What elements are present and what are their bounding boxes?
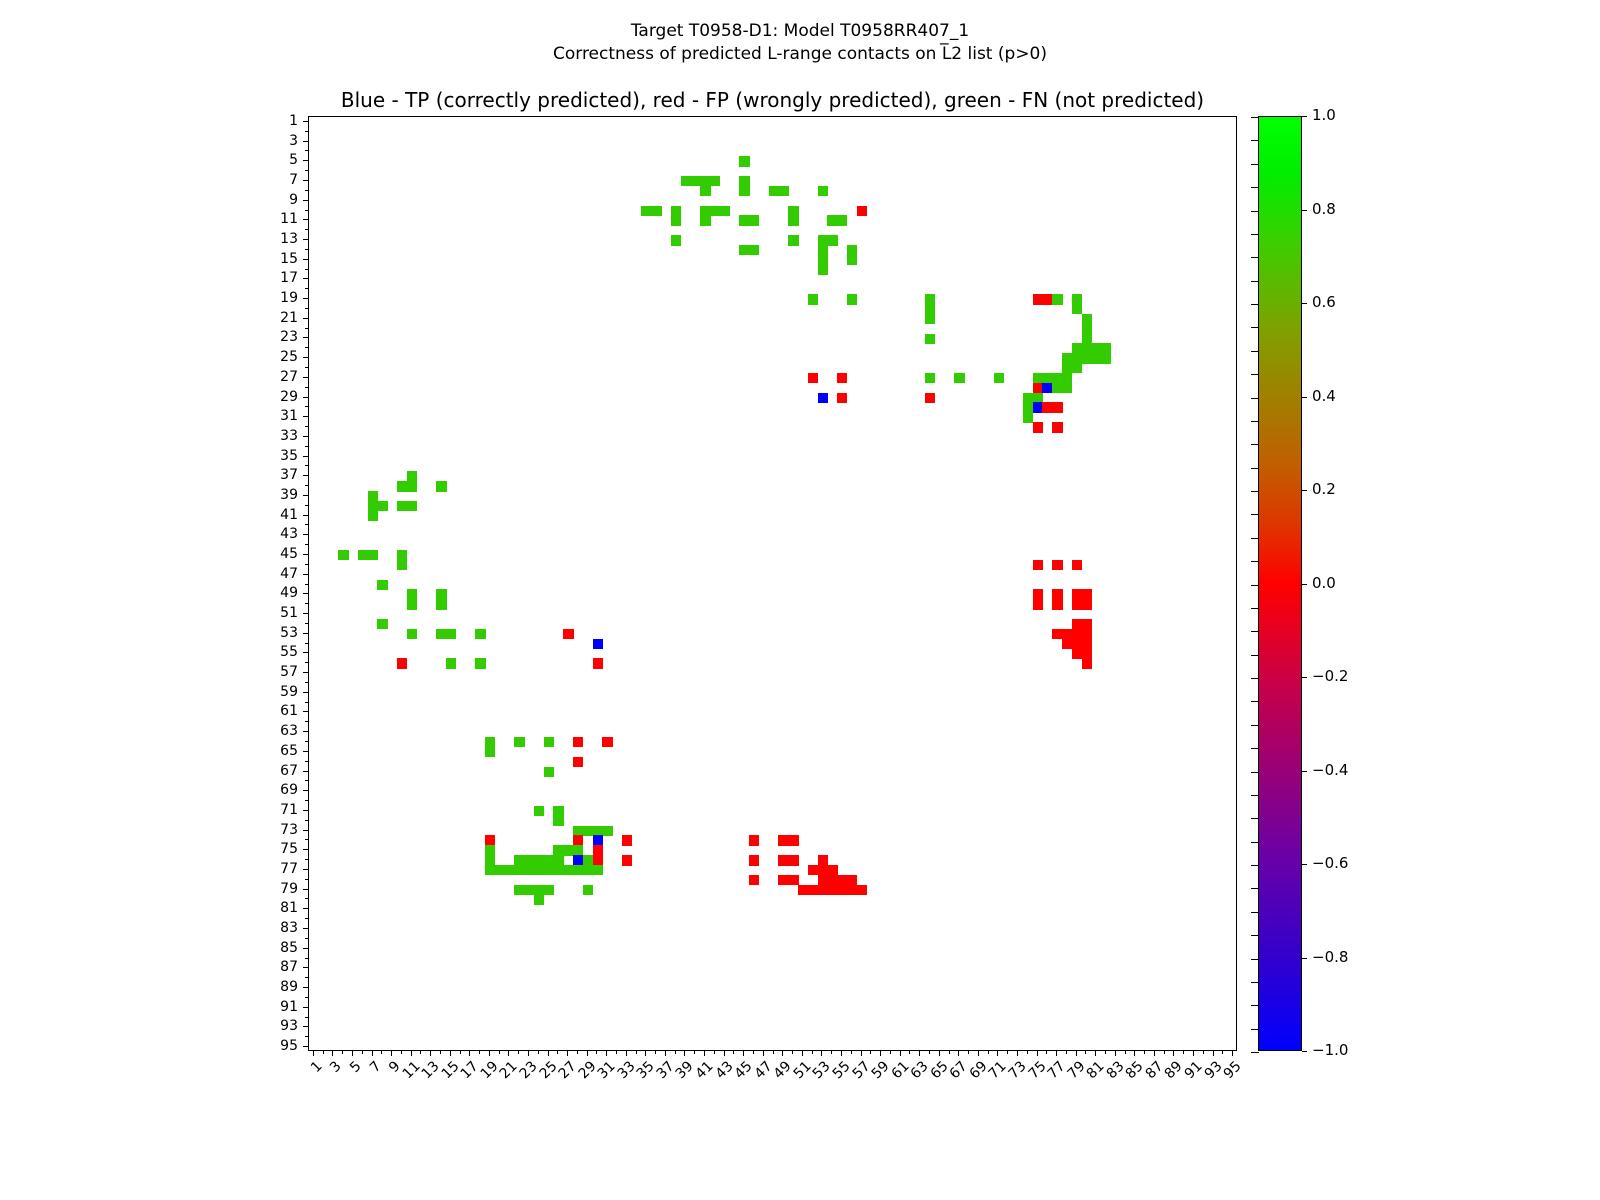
x-tick-mark bbox=[821, 1051, 822, 1056]
y-tick-mark bbox=[305, 406, 308, 407]
x-tick-mark bbox=[704, 1051, 705, 1056]
x-tick-mark bbox=[1046, 1051, 1047, 1054]
contact-cell-fp bbox=[837, 393, 847, 403]
contact-cell-fn bbox=[407, 501, 417, 511]
y-tick-mark bbox=[305, 229, 308, 230]
contact-cell-fn bbox=[671, 235, 681, 245]
x-tick-mark bbox=[1164, 1051, 1165, 1054]
x-tick-mark bbox=[1017, 1051, 1018, 1056]
y-tick-label: 73 bbox=[260, 823, 298, 837]
y-tick-label: 25 bbox=[260, 350, 298, 364]
colorbar-minor-tick bbox=[1251, 398, 1259, 399]
y-tick-label: 33 bbox=[260, 429, 298, 443]
y-tick-mark bbox=[303, 298, 308, 299]
y-tick-label: 89 bbox=[260, 980, 298, 994]
contact-cell-fp bbox=[622, 835, 632, 845]
y-tick-mark bbox=[305, 387, 308, 388]
contact-cell-fn bbox=[1052, 294, 1062, 304]
contact-cell-fp bbox=[925, 393, 935, 403]
contact-cell-fn bbox=[436, 599, 446, 609]
y-tick-mark bbox=[303, 475, 308, 476]
y-tick-label: 85 bbox=[260, 941, 298, 955]
y-tick-mark bbox=[303, 180, 308, 181]
contact-cell-fn bbox=[397, 560, 407, 570]
colorbar-minor-tick bbox=[1251, 538, 1259, 539]
contact-cell-fn bbox=[739, 156, 749, 166]
contact-cell-fn bbox=[436, 481, 446, 491]
y-tick-mark bbox=[305, 997, 308, 998]
y-tick-label: 65 bbox=[260, 744, 298, 758]
contact-cell-fn bbox=[377, 619, 387, 629]
y-tick-mark bbox=[303, 908, 308, 909]
colorbar-minor-tick bbox=[1251, 117, 1259, 118]
x-tick-mark bbox=[714, 1051, 715, 1054]
contact-cell-fn bbox=[925, 314, 935, 324]
y-tick-label: 19 bbox=[260, 291, 298, 305]
x-tick-mark bbox=[1173, 1051, 1174, 1056]
y-tick-mark bbox=[305, 328, 308, 329]
y-tick-mark bbox=[305, 465, 308, 466]
x-tick-mark bbox=[391, 1051, 392, 1056]
x-tick-mark bbox=[851, 1051, 852, 1054]
contact-cell-fn bbox=[544, 767, 554, 777]
x-tick-mark bbox=[401, 1051, 402, 1054]
contact-cell-fn bbox=[602, 826, 612, 836]
contact-cell-fp bbox=[1082, 658, 1092, 668]
colorbar-minor-tick bbox=[1251, 304, 1259, 305]
y-tick-mark bbox=[303, 318, 308, 319]
y-tick-label: 71 bbox=[260, 803, 298, 817]
y-tick-label: 75 bbox=[260, 842, 298, 856]
contact-cell-fp bbox=[573, 737, 583, 747]
y-tick-mark bbox=[303, 436, 308, 437]
y-tick-mark bbox=[303, 849, 308, 850]
contact-cell-fn bbox=[368, 511, 378, 521]
colorbar-tick-mark bbox=[1302, 490, 1307, 491]
colorbar-minor-tick bbox=[1251, 725, 1259, 726]
y-tick-mark bbox=[303, 751, 308, 752]
y-tick-mark bbox=[303, 337, 308, 338]
contact-cell-fp bbox=[857, 206, 867, 216]
y-tick-mark bbox=[305, 761, 308, 762]
x-tick-mark bbox=[332, 1051, 333, 1056]
y-tick-mark bbox=[305, 662, 308, 663]
colorbar-tick-mark bbox=[1302, 584, 1307, 585]
x-tick-mark bbox=[508, 1051, 509, 1056]
y-tick-mark bbox=[305, 938, 308, 939]
contact-cell-fn bbox=[544, 737, 554, 747]
y-tick-label: 61 bbox=[260, 704, 298, 718]
x-tick-mark bbox=[518, 1051, 519, 1054]
colorbar-minor-tick bbox=[1251, 374, 1259, 375]
x-tick-mark bbox=[939, 1051, 940, 1056]
x-tick-mark bbox=[675, 1051, 676, 1054]
colorbar-minor-tick bbox=[1251, 1029, 1259, 1030]
y-tick-label: 7 bbox=[260, 173, 298, 187]
x-tick-mark bbox=[919, 1051, 920, 1056]
y-tick-label: 17 bbox=[260, 271, 298, 285]
x-tick-mark bbox=[1213, 1051, 1214, 1056]
x-tick-mark bbox=[694, 1051, 695, 1054]
y-tick-label: 29 bbox=[260, 390, 298, 404]
colorbar-tick-label: −0.8 bbox=[1312, 950, 1348, 965]
y-tick-mark bbox=[303, 416, 308, 417]
y-tick-label: 5 bbox=[260, 153, 298, 167]
y-tick-mark bbox=[305, 190, 308, 191]
y-tick-mark bbox=[303, 495, 308, 496]
y-tick-mark bbox=[305, 544, 308, 545]
colorbar-minor-tick bbox=[1251, 959, 1259, 960]
x-tick-mark bbox=[440, 1051, 441, 1054]
contact-cell-fn bbox=[749, 245, 759, 255]
x-tick-mark bbox=[1066, 1051, 1067, 1054]
x-tick-mark bbox=[655, 1051, 656, 1054]
y-tick-mark bbox=[303, 121, 308, 122]
y-tick-mark bbox=[305, 1036, 308, 1037]
y-tick-mark bbox=[303, 613, 308, 614]
colorbar-minor-tick bbox=[1251, 211, 1259, 212]
x-tick-mark bbox=[587, 1051, 588, 1056]
x-tick-mark bbox=[978, 1051, 979, 1056]
x-tick-mark bbox=[1222, 1051, 1223, 1054]
x-tick-mark bbox=[323, 1051, 324, 1054]
contact-cell-fp bbox=[808, 373, 818, 383]
y-tick-mark bbox=[305, 879, 308, 880]
y-tick-label: 59 bbox=[260, 685, 298, 699]
contact-cell-fn bbox=[1062, 383, 1072, 393]
y-tick-mark bbox=[303, 889, 308, 890]
y-tick-mark bbox=[303, 672, 308, 673]
colorbar-minor-tick bbox=[1251, 865, 1259, 866]
x-tick-mark bbox=[645, 1051, 646, 1056]
contact-cell-fn bbox=[818, 265, 828, 275]
y-tick-mark bbox=[305, 721, 308, 722]
y-tick-mark bbox=[303, 397, 308, 398]
contact-cell-fn bbox=[407, 629, 417, 639]
contact-cell-fp bbox=[622, 855, 632, 865]
y-tick-mark bbox=[305, 308, 308, 309]
contact-cell-fn bbox=[475, 658, 485, 668]
contact-cell-fp bbox=[1072, 560, 1082, 570]
contact-cell-fp bbox=[1052, 560, 1062, 570]
x-tick-mark bbox=[792, 1051, 793, 1054]
contact-cell-fn bbox=[583, 885, 593, 895]
contact-cell-fn bbox=[788, 235, 798, 245]
contact-cell-fn bbox=[788, 215, 798, 225]
x-tick-mark bbox=[997, 1051, 998, 1056]
x-tick-mark bbox=[890, 1051, 891, 1054]
y-tick-label: 69 bbox=[260, 783, 298, 797]
contact-cell-fp bbox=[1052, 599, 1062, 609]
colorbar-minor-tick bbox=[1251, 491, 1259, 492]
colorbar-minor-tick bbox=[1251, 421, 1259, 422]
contact-cell-fp bbox=[563, 629, 573, 639]
y-tick-mark bbox=[303, 810, 308, 811]
y-tick-label: 43 bbox=[260, 527, 298, 541]
x-tick-mark bbox=[929, 1051, 930, 1054]
colorbar-minor-tick bbox=[1251, 655, 1259, 656]
x-tick-mark bbox=[1037, 1051, 1038, 1056]
y-tick-mark bbox=[303, 652, 308, 653]
x-tick-mark bbox=[352, 1051, 353, 1056]
contact-cell-fn bbox=[954, 373, 964, 383]
contact-cell-fn bbox=[534, 806, 544, 816]
contact-cell-fn bbox=[710, 176, 720, 186]
contact-cell-fn bbox=[925, 334, 935, 344]
y-tick-label: 63 bbox=[260, 724, 298, 738]
y-tick-label: 57 bbox=[260, 665, 298, 679]
contact-cell-fp bbox=[1033, 422, 1043, 432]
colorbar-minor-tick bbox=[1251, 561, 1259, 562]
y-tick-label: 95 bbox=[260, 1039, 298, 1053]
colorbar-tick-label: 1.0 bbox=[1312, 108, 1336, 123]
contact-cell-tp bbox=[818, 393, 828, 403]
x-tick-mark bbox=[870, 1051, 871, 1054]
colorbar-minor-ticks bbox=[1251, 117, 1259, 1052]
contact-cell-fn bbox=[446, 629, 456, 639]
colorbar-minor-tick bbox=[1251, 678, 1259, 679]
x-tick-mark bbox=[802, 1051, 803, 1056]
y-tick-mark bbox=[305, 446, 308, 447]
y-tick-mark bbox=[303, 987, 308, 988]
x-tick-mark bbox=[1027, 1051, 1028, 1054]
x-tick-mark bbox=[684, 1051, 685, 1056]
contact-cell-fp bbox=[749, 835, 759, 845]
x-tick-mark bbox=[753, 1051, 754, 1054]
y-tick-mark bbox=[303, 593, 308, 594]
x-tick-mark bbox=[548, 1051, 549, 1056]
contact-cell-fn bbox=[778, 186, 788, 196]
x-tick-mark bbox=[1095, 1051, 1096, 1056]
y-tick-label: 53 bbox=[260, 626, 298, 640]
contact-cell-fn bbox=[544, 885, 554, 895]
y-tick-mark bbox=[305, 623, 308, 624]
y-tick-mark bbox=[303, 259, 308, 260]
y-tick-mark bbox=[305, 150, 308, 151]
colorbar-tick-mark bbox=[1302, 958, 1307, 959]
y-tick-label: 91 bbox=[260, 1000, 298, 1014]
x-tick-mark bbox=[841, 1051, 842, 1056]
x-tick-mark bbox=[831, 1051, 832, 1054]
contact-cell-fp bbox=[1052, 422, 1062, 432]
y-tick-mark bbox=[303, 948, 308, 949]
y-tick-mark bbox=[303, 515, 308, 516]
contact-cell-fp bbox=[1082, 599, 1092, 609]
y-tick-mark bbox=[303, 771, 308, 772]
contact-cell-fp bbox=[593, 658, 603, 668]
x-tick-mark bbox=[469, 1051, 470, 1056]
contact-cell-fn bbox=[338, 550, 348, 560]
colorbar-minor-tick bbox=[1251, 1052, 1259, 1053]
contact-cell-fn bbox=[700, 215, 710, 225]
colorbar-tick-mark bbox=[1302, 1051, 1307, 1052]
figure-suptitle: Target T0958-D1: Model T0958RR407_1 Corr… bbox=[0, 20, 1600, 66]
y-tick-mark bbox=[305, 820, 308, 821]
contact-cell-fn bbox=[700, 186, 710, 196]
y-tick-label: 79 bbox=[260, 882, 298, 896]
y-tick-label: 51 bbox=[260, 606, 298, 620]
contact-cell-fn bbox=[994, 373, 1004, 383]
y-tick-label: 87 bbox=[260, 960, 298, 974]
y-tick-mark bbox=[303, 239, 308, 240]
x-tick-mark bbox=[1193, 1051, 1194, 1056]
y-tick-label: 83 bbox=[260, 921, 298, 935]
contact-cell-fp bbox=[788, 835, 798, 845]
colorbar-minor-tick bbox=[1251, 234, 1259, 235]
colorbar-gradient bbox=[1258, 116, 1302, 1051]
contact-map-figure: Target T0958-D1: Model T0958RR407_1 Corr… bbox=[0, 0, 1600, 1200]
y-tick-mark bbox=[305, 485, 308, 486]
colorbar-minor-tick bbox=[1251, 818, 1259, 819]
x-tick-mark bbox=[538, 1051, 539, 1054]
contact-cell-fn bbox=[553, 816, 563, 826]
x-tick-mark bbox=[1076, 1051, 1077, 1056]
y-tick-mark bbox=[303, 1026, 308, 1027]
contact-cell-fp bbox=[788, 855, 798, 865]
y-tick-label: 41 bbox=[260, 508, 298, 522]
y-tick-mark bbox=[303, 830, 308, 831]
x-tick-mark bbox=[1154, 1051, 1155, 1056]
y-tick-mark bbox=[305, 584, 308, 585]
y-tick-mark bbox=[305, 170, 308, 171]
x-tick-mark bbox=[489, 1051, 490, 1056]
colorbar-tick-mark bbox=[1302, 771, 1307, 772]
contact-cell-fn bbox=[485, 747, 495, 757]
y-tick-mark bbox=[305, 210, 308, 211]
y-tick-label: 39 bbox=[260, 488, 298, 502]
y-tick-label: 81 bbox=[260, 901, 298, 915]
y-tick-mark bbox=[305, 249, 308, 250]
y-tick-mark bbox=[305, 682, 308, 683]
y-tick-mark bbox=[305, 524, 308, 525]
colorbar-minor-tick bbox=[1251, 795, 1259, 796]
x-tick-mark bbox=[861, 1051, 862, 1056]
contact-cell-fn bbox=[837, 215, 847, 225]
contact-map-cells bbox=[309, 117, 1236, 1050]
colorbar-tick-label: 0.8 bbox=[1312, 202, 1336, 217]
colorbar-tick-label: 0.2 bbox=[1312, 482, 1336, 497]
y-tick-mark bbox=[305, 269, 308, 270]
colorbar-minor-tick bbox=[1251, 468, 1259, 469]
y-tick-label: 11 bbox=[260, 212, 298, 226]
colorbar-tick-mark bbox=[1302, 677, 1307, 678]
y-tick-label: 9 bbox=[260, 193, 298, 207]
colorbar-tick-mark bbox=[1302, 116, 1307, 117]
y-tick-mark bbox=[303, 692, 308, 693]
y-tick-label: 49 bbox=[260, 586, 298, 600]
contact-cell-fn bbox=[808, 294, 818, 304]
x-tick-mark bbox=[1105, 1051, 1106, 1054]
y-tick-mark bbox=[303, 967, 308, 968]
colorbar-minor-tick bbox=[1251, 631, 1259, 632]
colorbar-minor-tick bbox=[1251, 140, 1259, 141]
y-tick-mark bbox=[305, 898, 308, 899]
y-tick-label: 35 bbox=[260, 449, 298, 463]
x-tick-mark bbox=[1134, 1051, 1135, 1056]
x-tick-mark bbox=[596, 1051, 597, 1054]
colorbar-tick-label: −0.6 bbox=[1312, 856, 1348, 871]
contact-cell-fn bbox=[377, 501, 387, 511]
y-tick-label: 93 bbox=[260, 1019, 298, 1033]
contact-cell-fn bbox=[827, 235, 837, 245]
colorbar-tick-mark bbox=[1302, 303, 1307, 304]
contact-cell-fn bbox=[1101, 353, 1111, 363]
y-tick-mark bbox=[303, 554, 308, 555]
y-tick-label: 13 bbox=[260, 232, 298, 246]
contact-map-plot-area[interactable] bbox=[308, 116, 1237, 1051]
y-tick-mark bbox=[305, 839, 308, 840]
y-tick-mark bbox=[303, 928, 308, 929]
contact-cell-fn bbox=[368, 550, 378, 560]
y-tick-mark bbox=[303, 219, 308, 220]
colorbar-minor-tick bbox=[1251, 608, 1259, 609]
y-tick-mark bbox=[305, 1017, 308, 1018]
x-tick-mark bbox=[1144, 1051, 1145, 1054]
x-tick-mark bbox=[450, 1051, 451, 1056]
x-tick-mark bbox=[773, 1051, 774, 1054]
contact-cell-fp bbox=[818, 855, 828, 865]
contact-cell-fn bbox=[593, 865, 603, 875]
contact-cell-fn bbox=[407, 599, 417, 609]
contact-cell-fn bbox=[749, 215, 759, 225]
y-tick-mark bbox=[303, 633, 308, 634]
y-tick-mark bbox=[305, 800, 308, 801]
colorbar-minor-tick bbox=[1251, 1005, 1259, 1006]
x-tick-mark bbox=[1115, 1051, 1116, 1056]
contact-cell-fn bbox=[514, 737, 524, 747]
contact-cell-fn bbox=[534, 895, 544, 905]
contact-cell-fn bbox=[925, 373, 935, 383]
y-tick-label: 31 bbox=[260, 409, 298, 423]
x-tick-mark bbox=[499, 1051, 500, 1054]
colorbar-tick-label: −1.0 bbox=[1312, 1043, 1348, 1058]
colorbar-tick-mark bbox=[1302, 864, 1307, 865]
y-tick-mark bbox=[305, 603, 308, 604]
x-tick-mark bbox=[1085, 1051, 1086, 1054]
colorbar[interactable]: 1.00.80.60.40.20.0−0.2−0.4−0.6−0.8−1.0 bbox=[1258, 116, 1302, 1051]
contact-cell-fp bbox=[1052, 402, 1062, 412]
y-tick-label: 45 bbox=[260, 547, 298, 561]
x-tick-mark bbox=[557, 1051, 558, 1054]
x-tick-mark bbox=[1203, 1051, 1204, 1054]
x-tick-mark bbox=[342, 1051, 343, 1054]
contact-cell-fp bbox=[837, 373, 847, 383]
contact-cell-fn bbox=[407, 481, 417, 491]
colorbar-minor-tick bbox=[1251, 701, 1259, 702]
y-tick-mark bbox=[305, 505, 308, 506]
contact-cell-fp bbox=[857, 885, 867, 895]
y-tick-mark bbox=[303, 278, 308, 279]
y-tick-mark bbox=[303, 711, 308, 712]
x-tick-mark bbox=[665, 1051, 666, 1056]
y-tick-mark bbox=[305, 564, 308, 565]
x-tick-mark bbox=[988, 1051, 989, 1054]
contact-cell-tp bbox=[593, 639, 603, 649]
x-tick-mark bbox=[1232, 1051, 1233, 1056]
colorbar-tick-label: 0.4 bbox=[1312, 389, 1336, 404]
y-tick-mark bbox=[303, 534, 308, 535]
contact-cell-fn bbox=[651, 206, 661, 216]
x-tick-mark bbox=[567, 1051, 568, 1056]
colorbar-minor-tick bbox=[1251, 444, 1259, 445]
x-tick-mark bbox=[577, 1051, 578, 1054]
contact-cell-fn bbox=[671, 215, 681, 225]
colorbar-minor-tick bbox=[1251, 748, 1259, 749]
suptitle-line-2: Correctness of predicted L-range contact… bbox=[553, 44, 1047, 64]
x-tick-mark bbox=[381, 1051, 382, 1054]
x-tick-mark bbox=[812, 1051, 813, 1054]
x-tick-mark bbox=[958, 1051, 959, 1056]
